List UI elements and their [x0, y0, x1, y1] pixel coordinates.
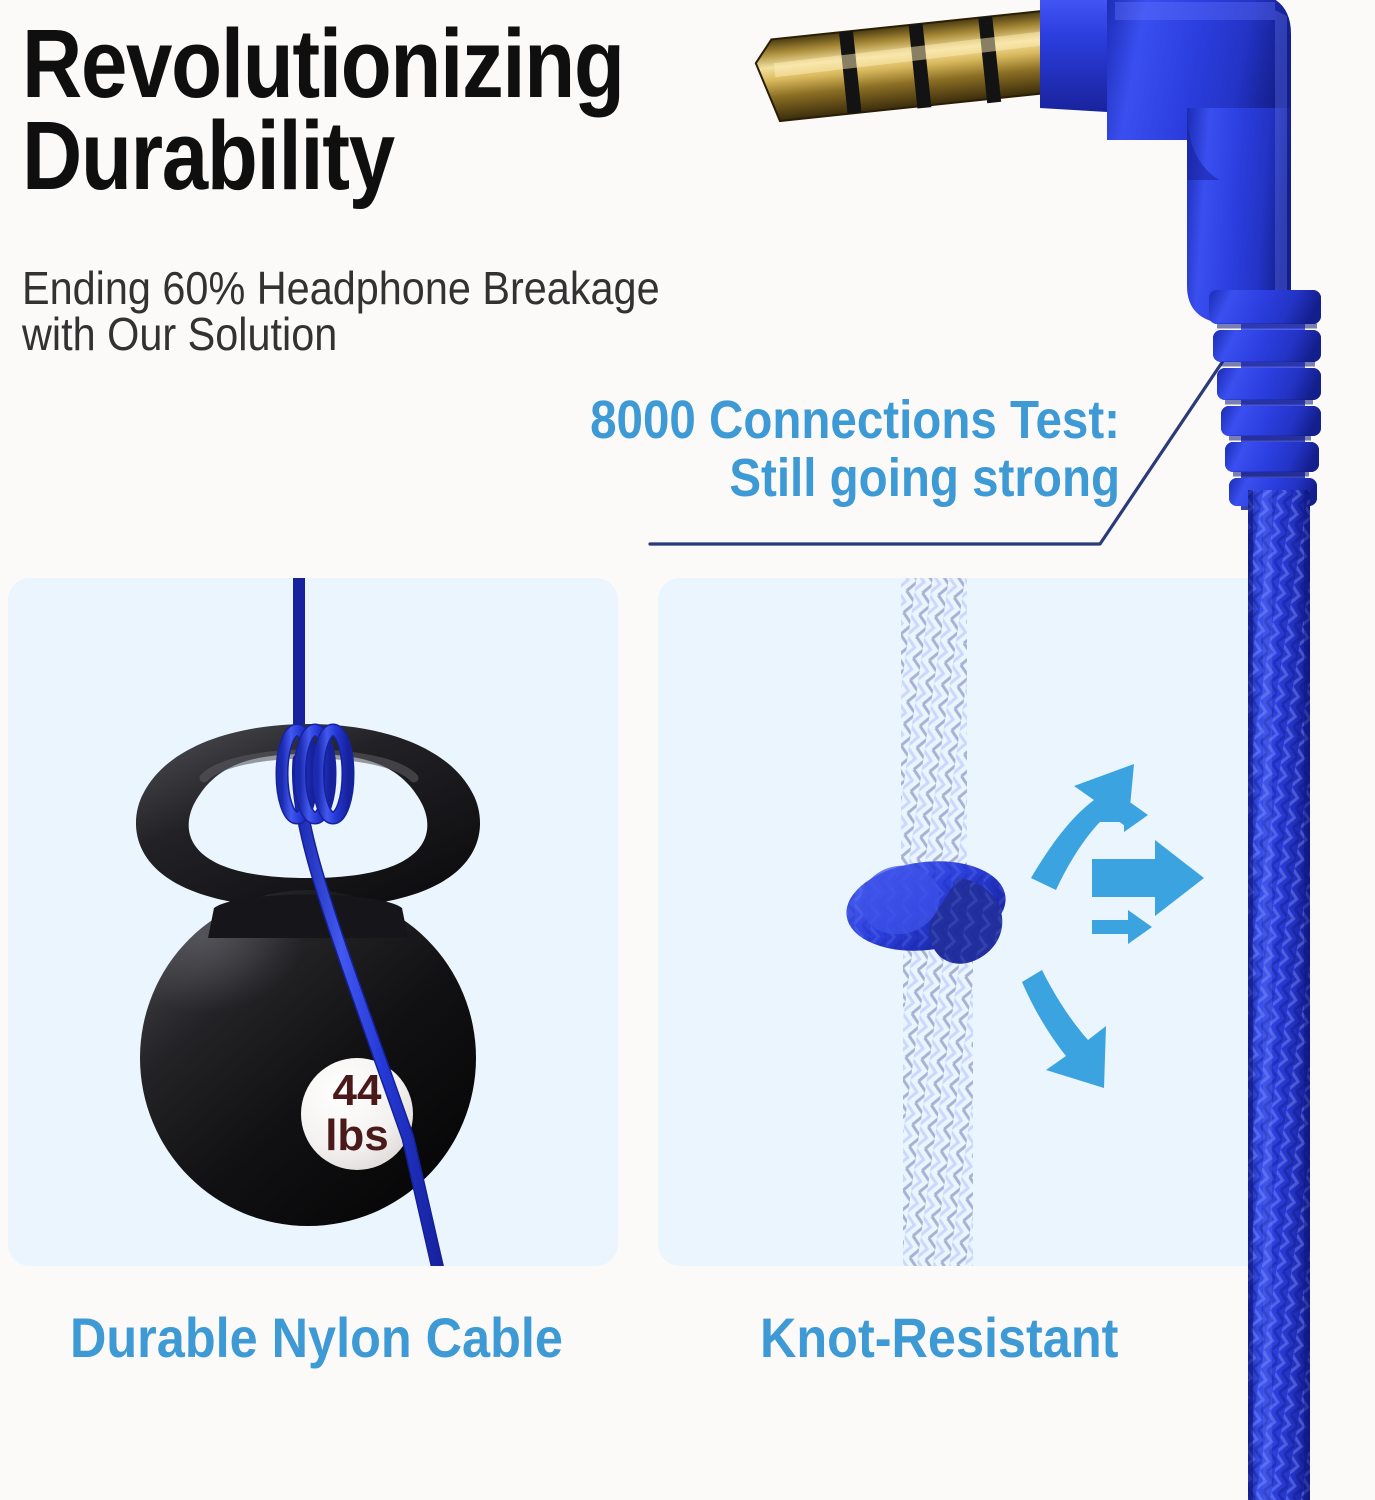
panel-durable-nylon-cable: 44 lbs — [8, 578, 618, 1266]
page-title: Revolutionizing Durability — [22, 18, 722, 202]
connections-test-callout: 8000 Connections Test: Still going stron… — [500, 392, 1120, 508]
insulator-ring-1 — [839, 31, 861, 114]
badge-weight-value: 44 — [333, 1066, 382, 1115]
curved-arrow-down-icon — [1022, 970, 1106, 1088]
callout-line-1: 8000 Connections Test: — [574, 392, 1120, 450]
kettlebell-illustration: 44 lbs — [8, 578, 618, 1266]
subheading: Ending 60% Headphone Breakage with Our S… — [22, 265, 872, 357]
callout-line-2: Still going strong — [574, 450, 1120, 508]
headline-line-1: Revolutionizing — [22, 18, 624, 110]
motion-arrows — [1022, 764, 1204, 1088]
small-arrow-right-lower-icon — [1092, 910, 1152, 944]
rope-knot — [841, 853, 1011, 964]
large-arrow-right-icon — [1092, 840, 1204, 916]
headline-line-2: Durability — [22, 110, 624, 202]
product-feature-graphic: Revolutionizing Durability Ending 60% He… — [0, 0, 1375, 1500]
knot-illustration — [658, 578, 1268, 1266]
connector-body — [1040, 0, 1291, 324]
panel-knot-resistant — [658, 578, 1268, 1266]
subheading-line-1: Ending 60% Headphone Breakage — [22, 265, 787, 311]
caption-durable-nylon-cable: Durable Nylon Cable — [70, 1305, 563, 1370]
badge-weight-unit: lbs — [325, 1111, 389, 1160]
strain-relief — [1205, 290, 1321, 510]
caption-knot-resistant: Knot-Resistant — [760, 1305, 1118, 1370]
connector-gold-contacts — [754, 9, 1069, 127]
subheading-line-2: with Our Solution — [22, 311, 787, 357]
insulator-ring-3 — [978, 16, 1001, 103]
insulator-ring-2 — [909, 24, 932, 109]
